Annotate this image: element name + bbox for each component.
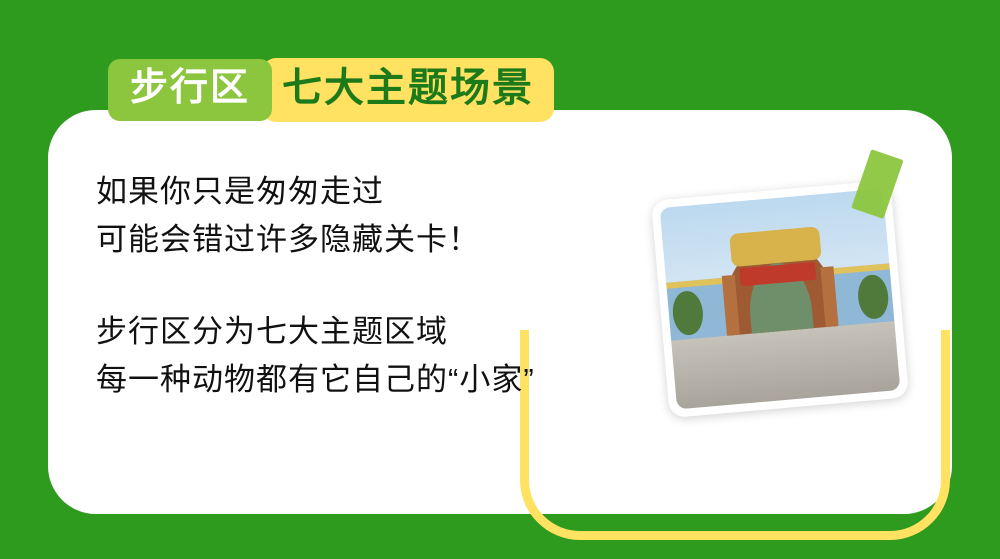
photo-card: [651, 180, 909, 418]
body-text: 如果你只是匆匆走过 可能会错过许多隐藏关卡！ 步行区分为七大主题区域 每一种动物…: [96, 168, 616, 404]
poster-root: 步行区 七大主题场景 如果你只是匆匆走过 可能会错过许多隐藏关卡！ 步行区分为七…: [0, 0, 1000, 559]
body-paragraph-1: 如果你只是匆匆走过 可能会错过许多隐藏关卡！: [96, 168, 616, 264]
body-paragraph-2: 步行区分为七大主题区域 每一种动物都有它自己的“小家”: [96, 308, 616, 404]
photo-frame: [651, 180, 909, 418]
park-entrance-photo: [660, 189, 901, 410]
header-badges: 步行区 七大主题场景: [108, 58, 554, 122]
badge-seven-themes: 七大主题场景: [262, 58, 554, 122]
badge-walking-area: 步行区: [108, 59, 272, 121]
